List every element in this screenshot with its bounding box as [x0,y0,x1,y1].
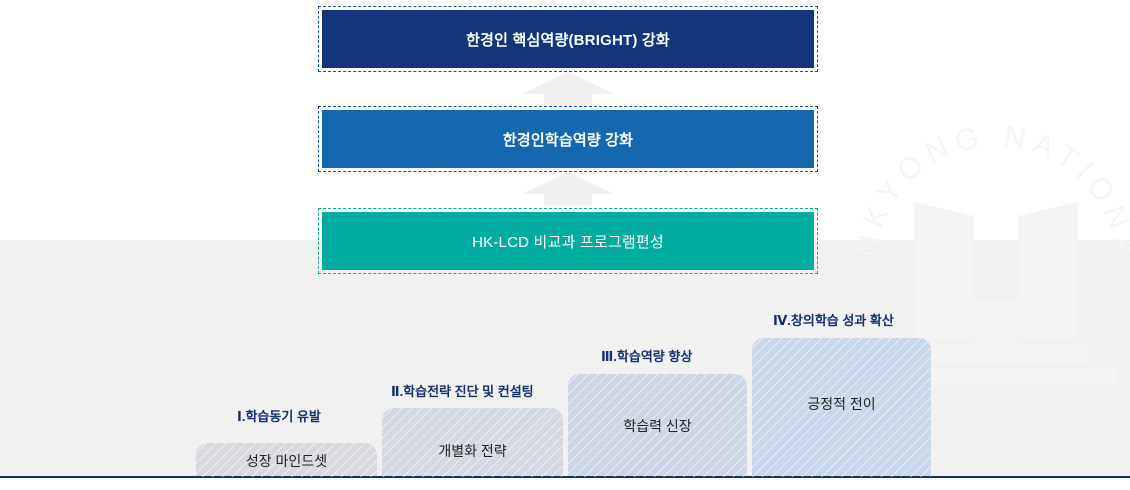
banner-learning-competency[interactable]: 한경인학습역량 강화 [318,106,818,172]
banner-core-competency-label: 한경인 핵심역량(BRIGHT) 강화 [322,10,814,68]
staircase-step-2[interactable]: 개별화 전략 [382,408,563,477]
chevron-up-arrow-icon [522,72,614,106]
chevron-up-arrow-icon [522,172,614,206]
banner-hk-lcd-program[interactable]: HK-LCD 비교과 프로그램편성 [318,208,818,274]
banner-hk-lcd-program-label: HK-LCD 비교과 프로그램편성 [322,212,814,270]
banner-core-competency[interactable]: 한경인 핵심역량(BRIGHT) 강화 [318,6,818,72]
step-caption-2: Ⅱ.학습전략 진단 및 컨설팅 [391,381,534,400]
staircase-step-1[interactable]: 성장 마인드셋 [196,443,377,477]
staircase-step-3[interactable]: 학습력 신장 [568,374,747,477]
staircase-step-4[interactable]: 긍정적 전이 [752,338,931,477]
baseline-rule [0,476,1130,478]
staircase-step-4-label: 긍정적 전이 [752,338,931,414]
step-caption-4: Ⅳ.창의학습 성과 확산 [773,310,894,329]
step-caption-3: Ⅲ.학습역량 향상 [601,346,692,365]
diagram-canvas: NKYONG NATIONAL UNIVERS 한경인 핵심역량(BRIGHT)… [0,0,1130,490]
lower-background-band [0,240,1130,477]
staircase-step-3-label: 학습력 신장 [568,374,747,436]
staircase-step-2-label: 개별화 전략 [382,408,563,461]
step-caption-1: Ⅰ.학습동기 유발 [237,406,321,425]
banner-learning-competency-label: 한경인학습역량 강화 [322,110,814,168]
staircase-step-1-label: 성장 마인드셋 [196,443,377,471]
